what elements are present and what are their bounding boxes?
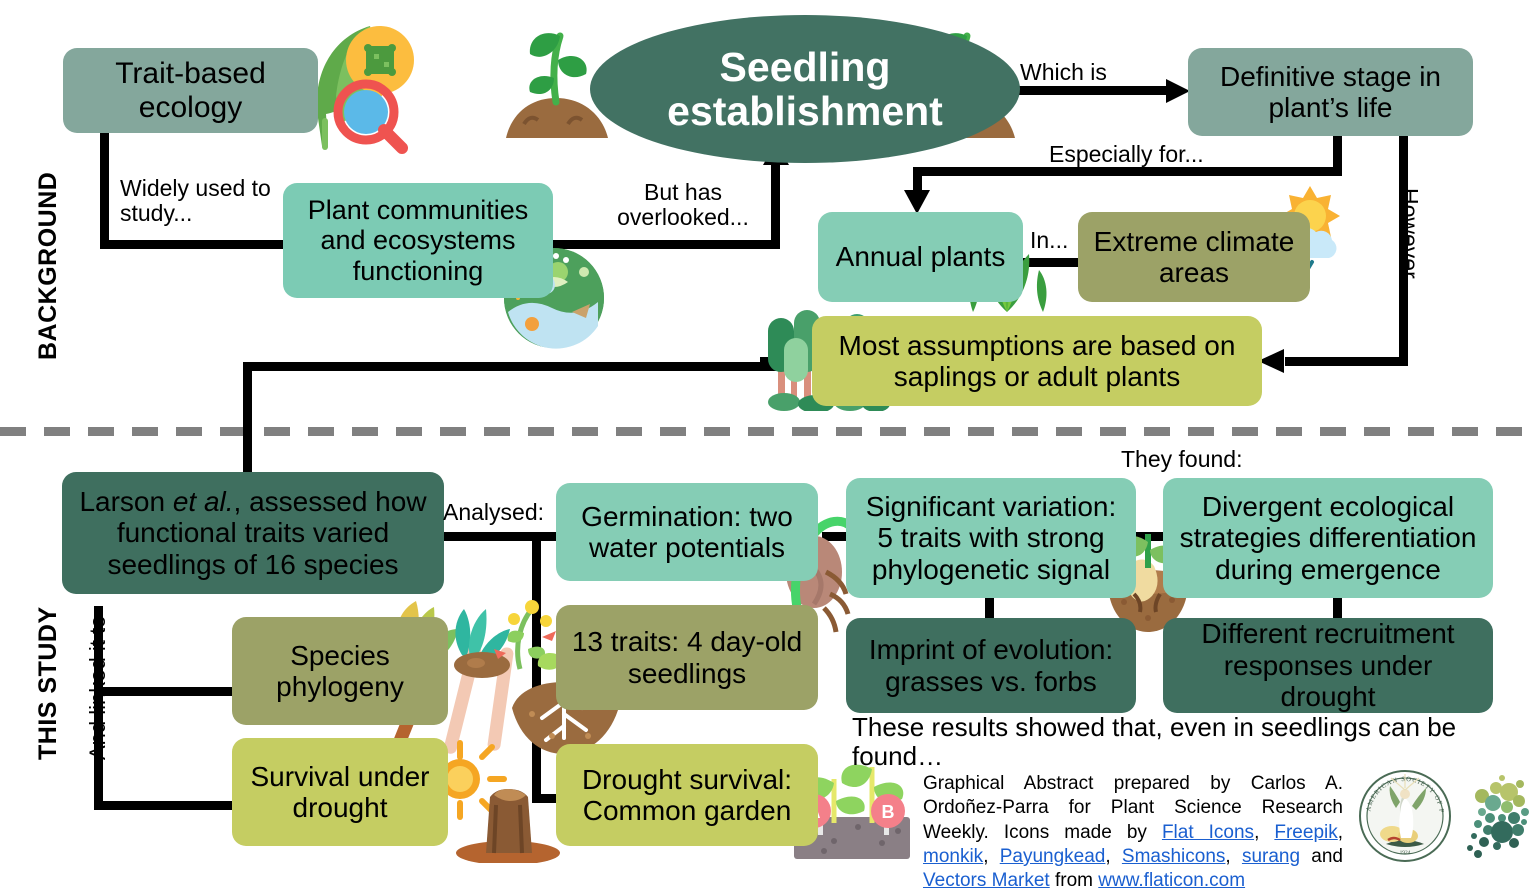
connector-communities-to-hero-v — [771, 163, 780, 245]
connector-label-they-found-text: They found: — [1121, 446, 1242, 472]
results-note-text: These results showed that, even in seedl… — [852, 712, 1456, 771]
dotted-leaf-logo — [1462, 770, 1532, 862]
connector-trait-to-communities-h — [100, 240, 292, 249]
box-different-recruitment-text: Different recruitment responses under dr… — [1173, 618, 1483, 712]
connector-label-however-text: However... — [1397, 188, 1423, 297]
box-significant-variation-text: Significant variation: 5 traits with str… — [856, 491, 1126, 585]
svg-text:AMERICAN SOCIETY OF PLANT BIOL: AMERICAN SOCIETY OF PLANT BIOLOGISTS — [1356, 768, 1445, 814]
connector-label-but-overlooked: But has overlooked... — [608, 180, 758, 231]
larson-pre: Larson — [79, 486, 172, 517]
connector-to-survival — [94, 801, 239, 810]
box-definitive-stage[interactable]: Definitive stage in plant’s life — [1188, 48, 1473, 136]
aspb-seal-logo: AMERICAN SOCIETY OF PLANT BIOLOGISTS 192… — [1356, 768, 1454, 864]
graphical-abstract-canvas: BACKGROUND THIS STUDY Widely used to stu… — [0, 0, 1536, 864]
connector-label-analysed-text: Analysed: — [443, 499, 544, 525]
box-plant-communities-text: Plant communities and ecosystems functio… — [293, 195, 543, 286]
connector-label-they-found: They found: — [1121, 447, 1242, 472]
box-larson-study-text: Larson et al., assessed how functional t… — [72, 486, 434, 580]
box-imprint-of-evolution-text: Imprint of evolution: grasses vs. forbs — [856, 634, 1126, 697]
hero-title-line2: establishment — [667, 88, 943, 134]
svg-text:1924: 1924 — [1400, 850, 1411, 856]
box-species-phylogeny[interactable]: Species phylogeny — [232, 617, 448, 725]
connector-label-in: In... — [1030, 228, 1068, 253]
connector-label-which-is: Which is — [1020, 60, 1107, 85]
box-13-traits-text: 13 traits: 4 day-old seedlings — [566, 626, 808, 689]
connector-larson-top — [94, 606, 102, 615]
connector-label-and-linked-it-to: And linked it to — [86, 616, 110, 760]
section-divider — [0, 427, 1536, 436]
connector-variation-to-imprint — [985, 596, 994, 620]
box-drought-survival-text: Drought survival: Common garden — [566, 764, 808, 827]
arrow-down-to-annual — [904, 190, 930, 214]
link-flat-icons[interactable]: Flat Icons — [1162, 822, 1254, 843]
connector-label-but-overlooked-text: But has overlooked... — [617, 179, 749, 230]
connector-divergent-to-recruitment — [1333, 596, 1342, 620]
box-definitive-stage-text: Definitive stage in plant’s life — [1198, 61, 1463, 124]
box-13-traits[interactable]: 13 traits: 4 day-old seedlings — [556, 605, 818, 710]
box-imprint-of-evolution[interactable]: Imprint of evolution: grasses vs. forbs — [846, 618, 1136, 713]
connector-label-widely-used: Widely used to study... — [120, 176, 290, 227]
connector-analysed-v — [532, 532, 541, 802]
box-significant-variation[interactable]: Significant variation: 5 traits with str… — [846, 478, 1136, 598]
connector-label-widely-used-text: Widely used to study... — [120, 175, 271, 226]
box-survival-under-drought[interactable]: Survival under drought — [232, 738, 448, 846]
box-survival-under-drought-text: Survival under drought — [242, 761, 438, 824]
box-divergent-strategies-text: Divergent ecological strategies differen… — [1173, 491, 1483, 585]
box-germination[interactable]: Germination: two water potentials — [556, 483, 818, 581]
results-note: These results showed that, even in seedl… — [852, 713, 1536, 770]
section-label-this-study: THIS STUDY — [34, 606, 63, 760]
connector-label-especially-for-text: Especially for... — [1049, 141, 1204, 167]
box-plant-communities[interactable]: Plant communities and ecosystems functio… — [283, 183, 553, 298]
hero-seedling-establishment: Seedling establishment — [590, 15, 1020, 163]
connector-label-however: However... — [1397, 188, 1422, 297]
connector-label-in-text: In... — [1030, 227, 1068, 253]
connector-trait-to-communities-v — [100, 133, 109, 249]
connector-hero-to-definitive — [1012, 86, 1172, 95]
connector-communities-to-hero-h — [552, 240, 780, 249]
connector-assumptions-down-h — [243, 362, 868, 371]
box-most-assumptions-text: Most assumptions are based on saplings o… — [822, 330, 1252, 393]
section-label-this-study-text: THIS STUDY — [34, 606, 62, 760]
hero-title: Seedling establishment — [667, 45, 943, 134]
box-trait-based-ecology[interactable]: Trait-based ecology — [63, 48, 318, 133]
svg-text:B: B — [882, 802, 895, 822]
box-drought-survival-common-garden[interactable]: Drought survival: Common garden — [556, 744, 818, 846]
connector-definitive-left — [913, 167, 1342, 176]
connector-label-which-is-text: Which is — [1020, 59, 1107, 85]
connector-analysed-h — [440, 532, 540, 541]
box-trait-based-ecology-text: Trait-based ecology — [73, 57, 308, 124]
connector-assumptions-down-v — [243, 362, 252, 476]
link-flaticon-site[interactable]: www.flaticon.com — [1098, 870, 1245, 891]
connector-to-phylogeny — [94, 687, 239, 696]
box-most-assumptions[interactable]: Most assumptions are based on saplings o… — [812, 316, 1262, 406]
connector-label-especially-for: Especially for... — [1049, 142, 1204, 167]
credits-from: from — [1050, 870, 1099, 891]
box-annual-plants-text: Annual plants — [836, 241, 1006, 272]
connector-label-analysed: Analysed: — [443, 500, 544, 525]
larson-italic: et al. — [173, 486, 234, 517]
box-different-recruitment[interactable]: Different recruitment responses under dr… — [1163, 618, 1493, 713]
link-vectors-market[interactable]: Vectors Market — [923, 870, 1050, 891]
connector-however-h — [1285, 357, 1408, 366]
box-extreme-climate-text: Extreme climate areas — [1088, 226, 1300, 289]
box-divergent-strategies[interactable]: Divergent ecological strategies differen… — [1163, 478, 1493, 598]
section-label-background-text: BACKGROUND — [34, 172, 62, 360]
link-freepik[interactable]: Freepik — [1274, 822, 1337, 843]
box-species-phylogeny-text: Species phylogeny — [242, 640, 438, 703]
box-germination-text: Germination: two water potentials — [566, 501, 808, 564]
credits-text: Graphical Abstract prepared by Carlos A.… — [923, 772, 1343, 894]
section-label-background: BACKGROUND — [34, 172, 63, 360]
box-larson-study[interactable]: Larson et al., assessed how functional t… — [62, 472, 444, 594]
arrow-right-to-definitive — [1166, 79, 1190, 103]
box-extreme-climate[interactable]: Extreme climate areas — [1078, 212, 1310, 302]
credits-line1: Graphical Abstract prepared by Carlos A.… — [923, 773, 1343, 891]
hero-title-line1: Seedling — [720, 44, 891, 90]
box-annual-plants[interactable]: Annual plants — [818, 212, 1023, 302]
connector-label-and-linked-it-to-text: And linked it to — [85, 616, 110, 760]
